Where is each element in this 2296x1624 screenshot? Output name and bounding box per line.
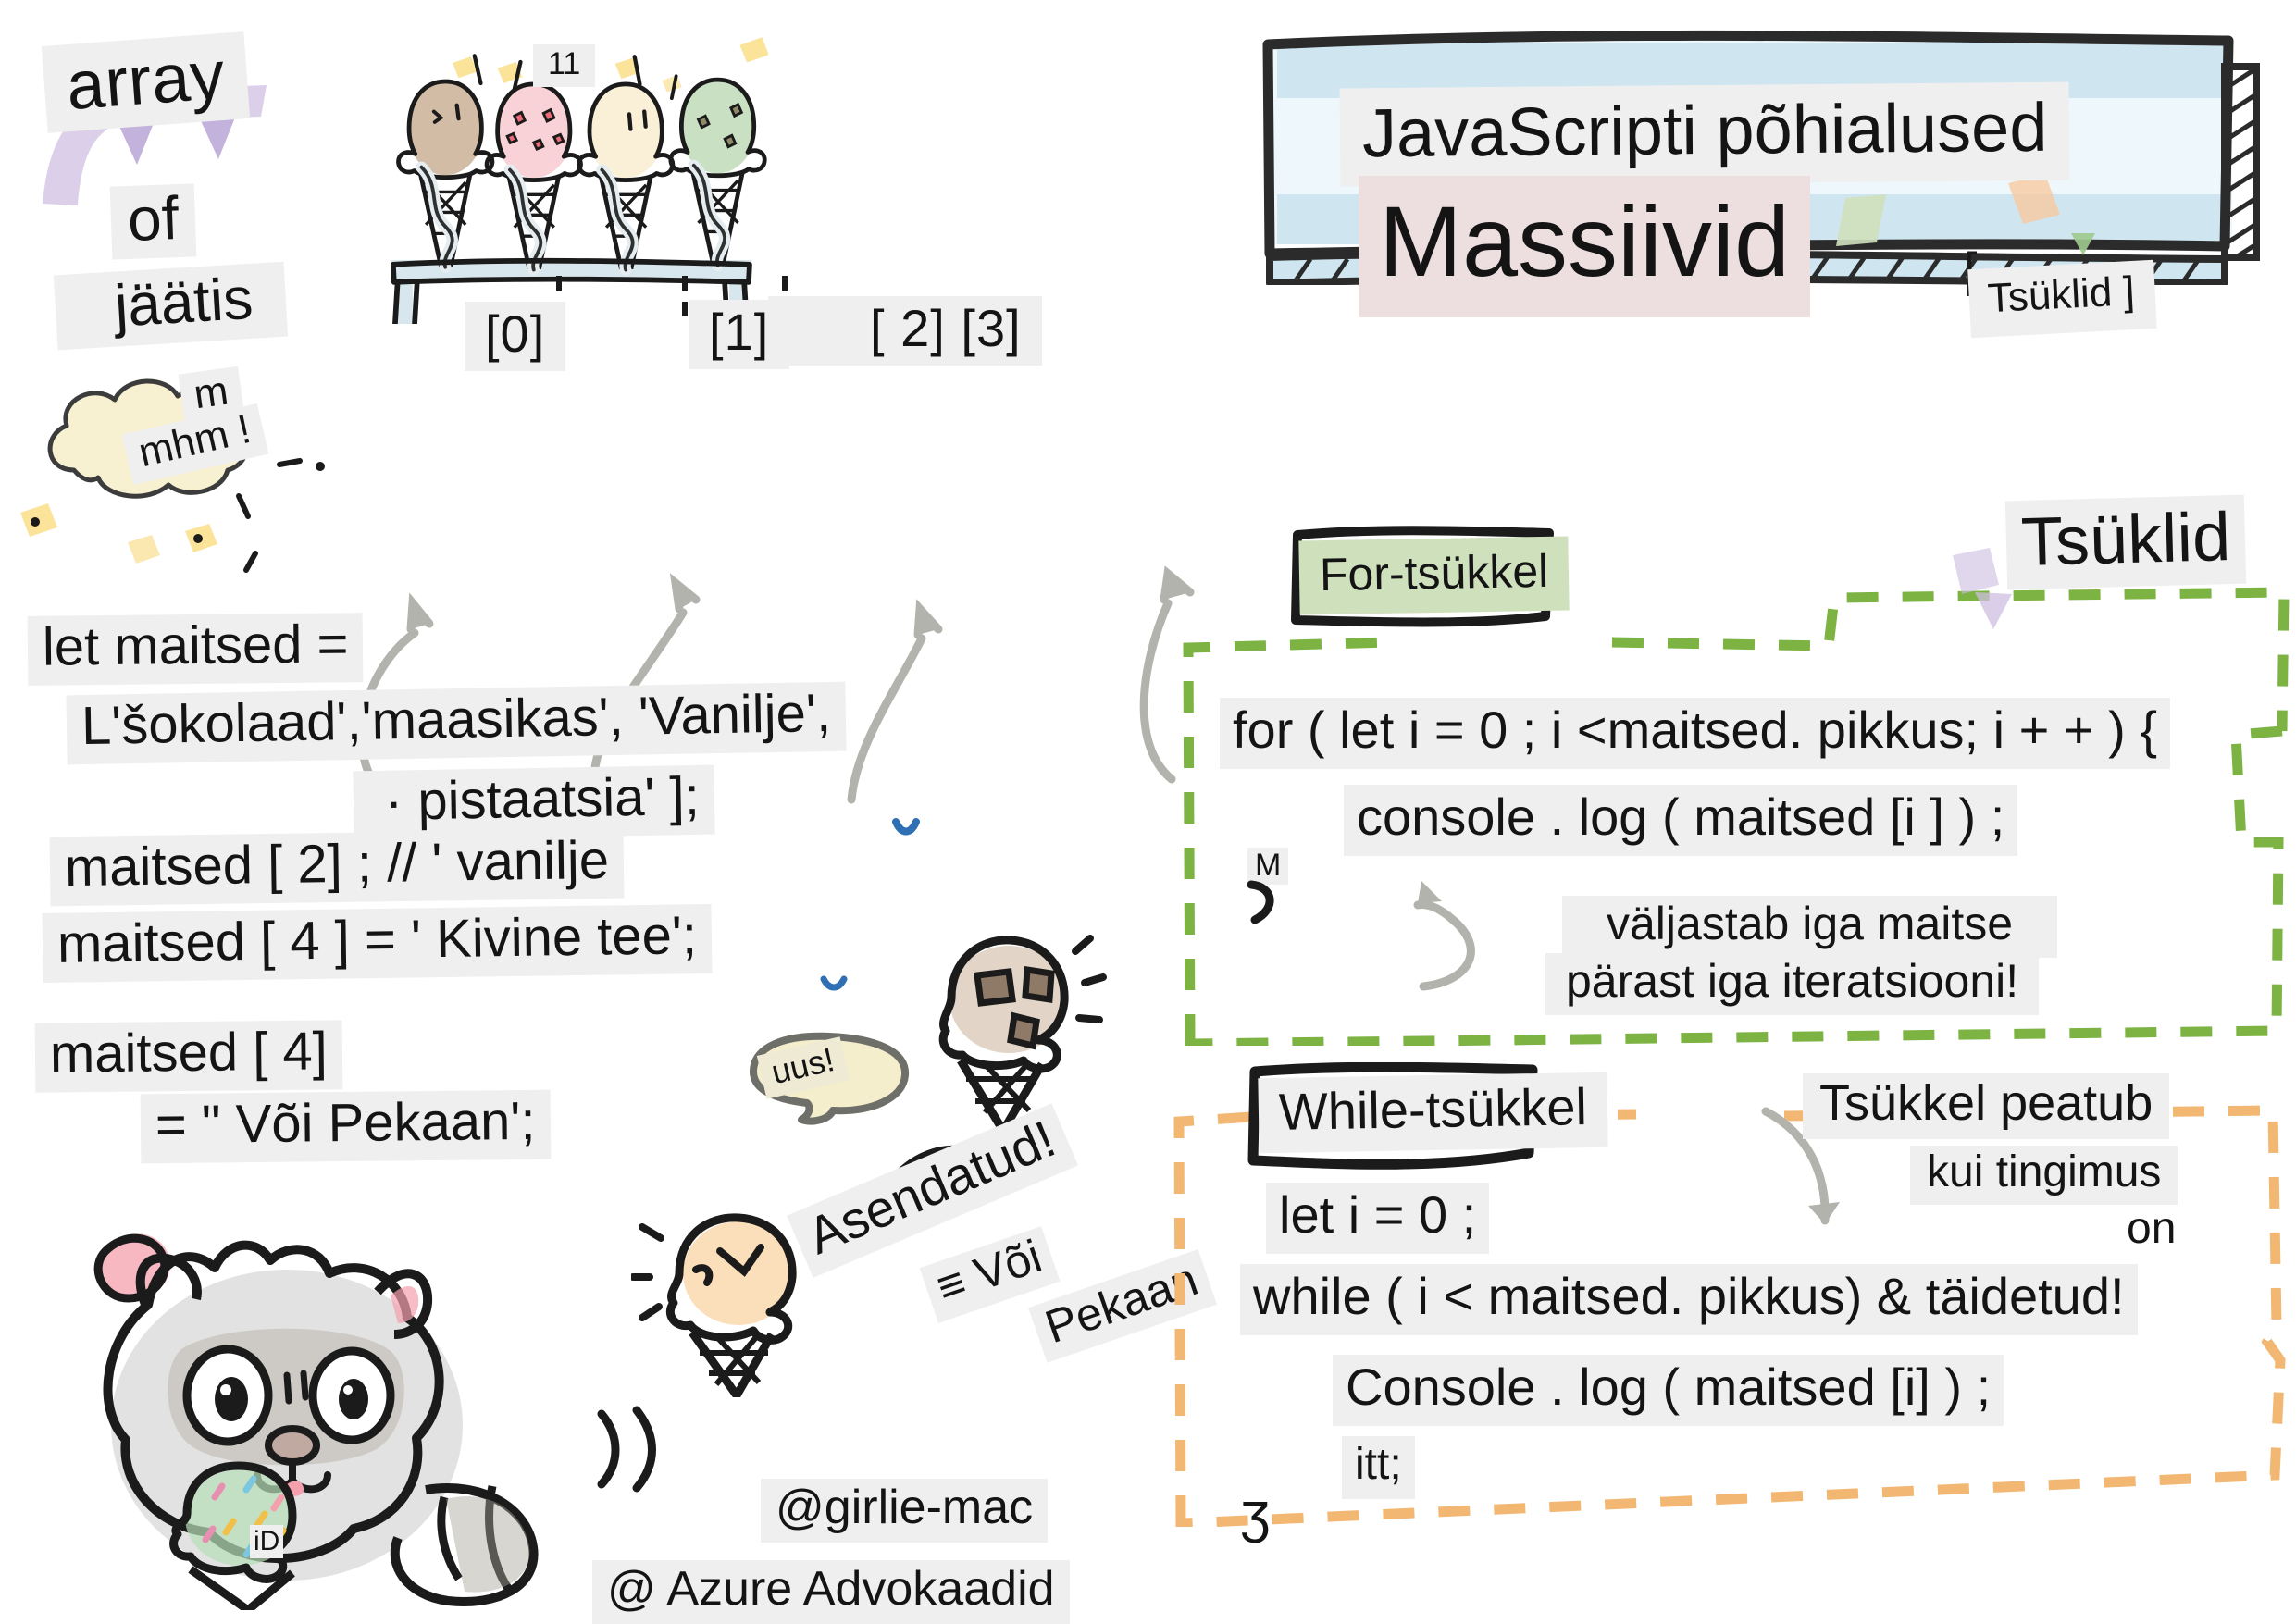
for-loop-note-line1: väljastab iga maitse [1562, 896, 2057, 958]
tag-while-loop: While-tsükkel [1258, 1072, 1607, 1153]
badge-tsuklid: Tsüklid ] [1967, 260, 2157, 339]
while-note-line3: on [2119, 1203, 2183, 1254]
while-closing-brace: ʒ [1240, 1481, 1271, 1544]
label-array: array [42, 31, 250, 132]
while-condition-line: while ( i < maitsed. pikkus) & täidetud! [1240, 1264, 2138, 1335]
label-of: of [110, 183, 197, 259]
credit-girlie-mac: @girlie-mac [761, 1479, 1048, 1543]
while-increment-line: itt; [1342, 1436, 1415, 1499]
label-id-tiny: iD [250, 1525, 283, 1558]
while-note-line2: kui tingimus [1910, 1146, 2178, 1205]
label-jaatis: jäätis [54, 262, 289, 351]
motion-lines-icon [581, 1397, 683, 1499]
credit-azure: @ Azure Advokaadid [592, 1560, 1070, 1624]
for-note-arrow [1386, 879, 1534, 999]
poster-canvas: array of jäätis m mhm ! [0, 0, 2296, 1618]
code-line-access-2: maitsed [ 2] ; // ' vanilje [50, 829, 625, 907]
code-line-access-4: maitsed [ 4] [35, 1020, 343, 1092]
cookie-dough-cone-icon [907, 925, 1111, 1138]
index-label-2-3: [ 2] [3] [768, 296, 1042, 366]
code-line-assign-4: maitsed [ 4 ] = ' Kivine tee'; [43, 904, 713, 983]
poster-subtitle: JavaScripti põhialused [1340, 82, 2070, 187]
raccoon-mascot [9, 1203, 565, 1610]
code-line-assign-pekaan: = " Või Pekaan'; [141, 1090, 551, 1164]
while-note-line1: Tsükkel peatub [1803, 1073, 2169, 1139]
dot-decoration-blue [888, 814, 925, 851]
code-line-values: L'šokolaad','maasikas', 'Vanilje', [66, 682, 846, 765]
code-line-declaration: let maitsed = [28, 613, 364, 686]
label-eleven: 11 [533, 44, 595, 87]
for-loop-body-line: console . log ( maitsed [i ] ) ; [1344, 785, 2017, 856]
while-body-line: Console . log ( maitsed [i] ) ; [1333, 1355, 2004, 1426]
for-closing-brace-icon [1242, 877, 1288, 933]
while-init-line: let i = 0 ; [1266, 1183, 1489, 1254]
for-loop-header-line: for ( let i = 0 ; i <maitsed. pikkus; i … [1220, 698, 2170, 769]
tag-for-loop: For-tsükkel [1298, 536, 1570, 614]
poster-title: Massiivid [1359, 176, 1810, 317]
dot-decoration-blue-2 [818, 973, 851, 1007]
purple-triangle-accent [1967, 589, 2023, 635]
index-label-0: [0] [465, 302, 565, 371]
for-loop-note-line2: pärast iga iteratsiooni! [1545, 953, 2039, 1015]
